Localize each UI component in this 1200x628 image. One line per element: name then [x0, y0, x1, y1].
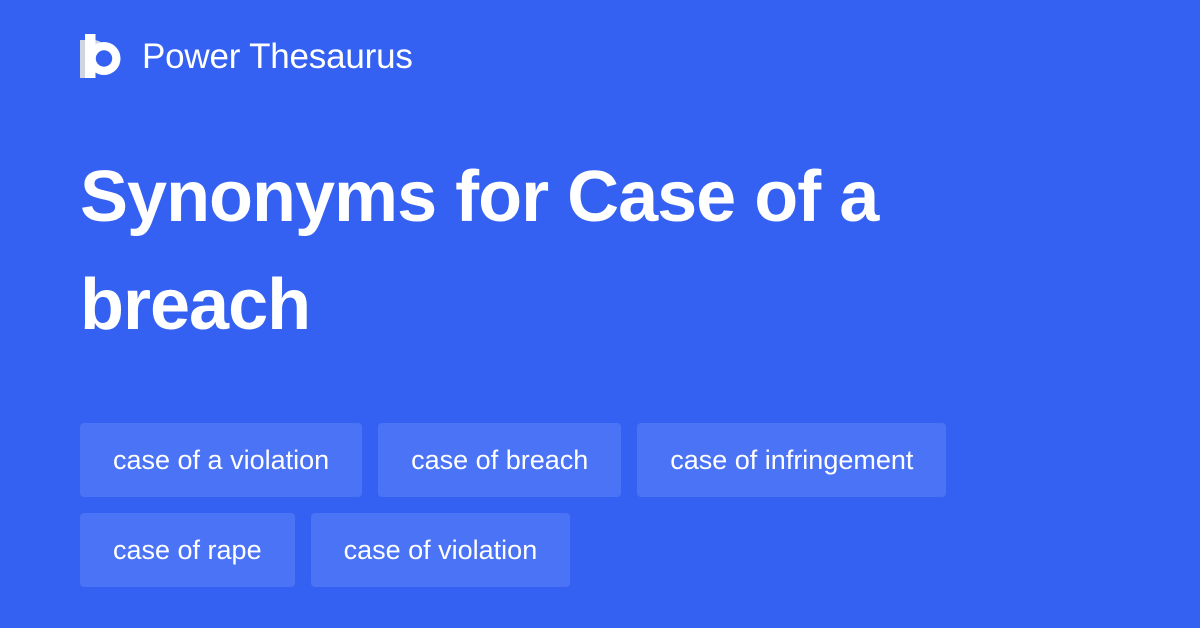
synonym-chip[interactable]: case of a violation: [80, 423, 362, 497]
share-card: Power Thesaurus Synonyms for Case of a b…: [0, 0, 1200, 628]
page-title: Synonyms for Case of a breach: [80, 143, 1080, 359]
brand-name: Power Thesaurus: [142, 39, 413, 74]
synonym-chip[interactable]: case of rape: [80, 513, 295, 587]
power-thesaurus-logo-icon: [80, 34, 122, 78]
synonym-chip[interactable]: case of infringement: [637, 423, 946, 497]
synonym-chip[interactable]: case of violation: [311, 513, 571, 587]
synonym-chip[interactable]: case of breach: [378, 423, 621, 497]
synonym-chip-list: case of a violation case of breach case …: [80, 423, 1120, 587]
brand-header[interactable]: Power Thesaurus: [80, 30, 413, 82]
